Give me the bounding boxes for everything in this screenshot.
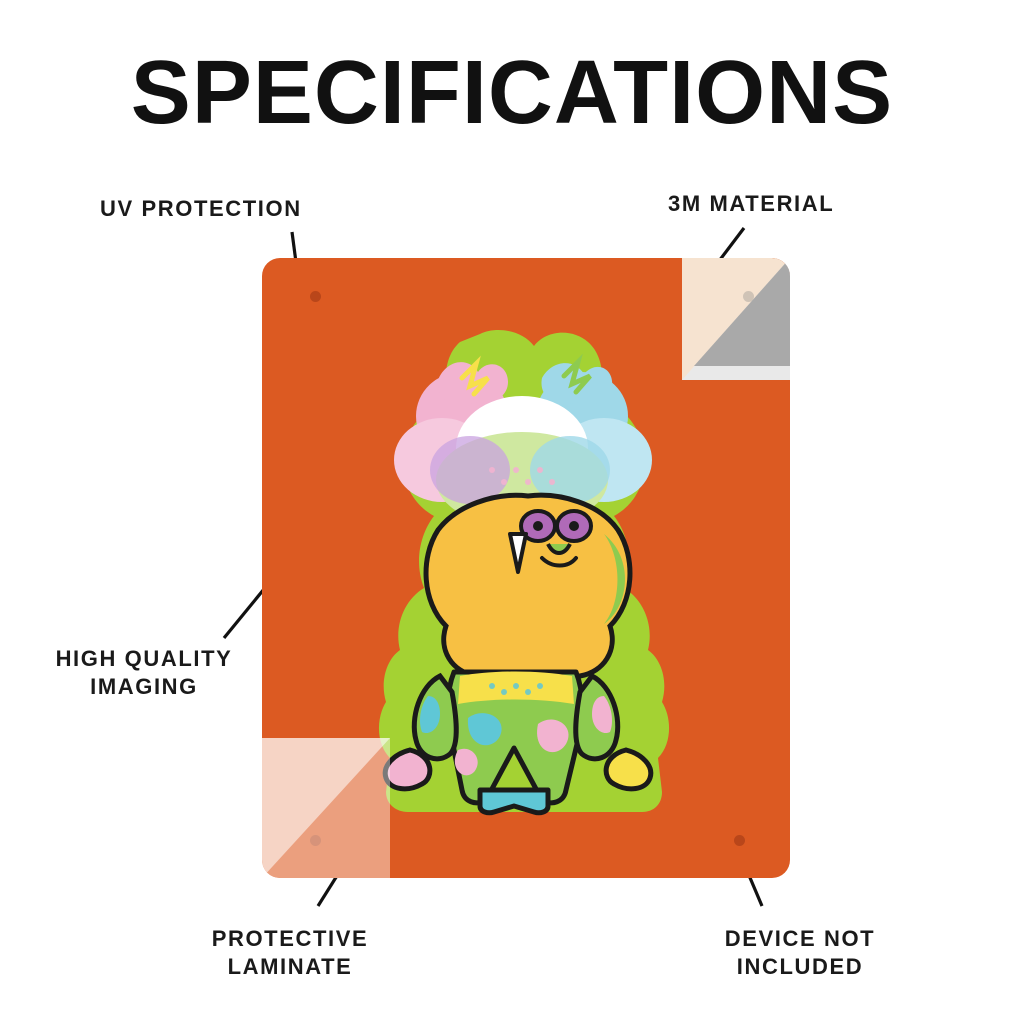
callout-label-device-not-included: DEVICE NOT INCLUDED bbox=[690, 925, 910, 980]
mounting-hole bbox=[310, 291, 321, 302]
mounting-hole bbox=[734, 835, 745, 846]
monster-artwork bbox=[342, 320, 702, 820]
callout-label-uv-protection: UV PROTECTION bbox=[100, 195, 302, 223]
3m-material-peel-fold-inner bbox=[694, 258, 790, 366]
callout-label-3m-material: 3M MATERIAL bbox=[668, 190, 834, 218]
poster-canvas: SPECIFICATIONS UV PROTECTION 3M MATERIAL… bbox=[0, 0, 1024, 1024]
callout-label-high-quality-imaging: HIGH QUALITY IMAGING bbox=[24, 645, 264, 700]
product-plate bbox=[262, 258, 790, 878]
callout-label-protective-laminate: PROTECTIVE LAMINATE bbox=[190, 925, 390, 980]
page-title: SPECIFICATIONS bbox=[0, 48, 1024, 138]
protective-laminate-fold bbox=[262, 738, 390, 878]
